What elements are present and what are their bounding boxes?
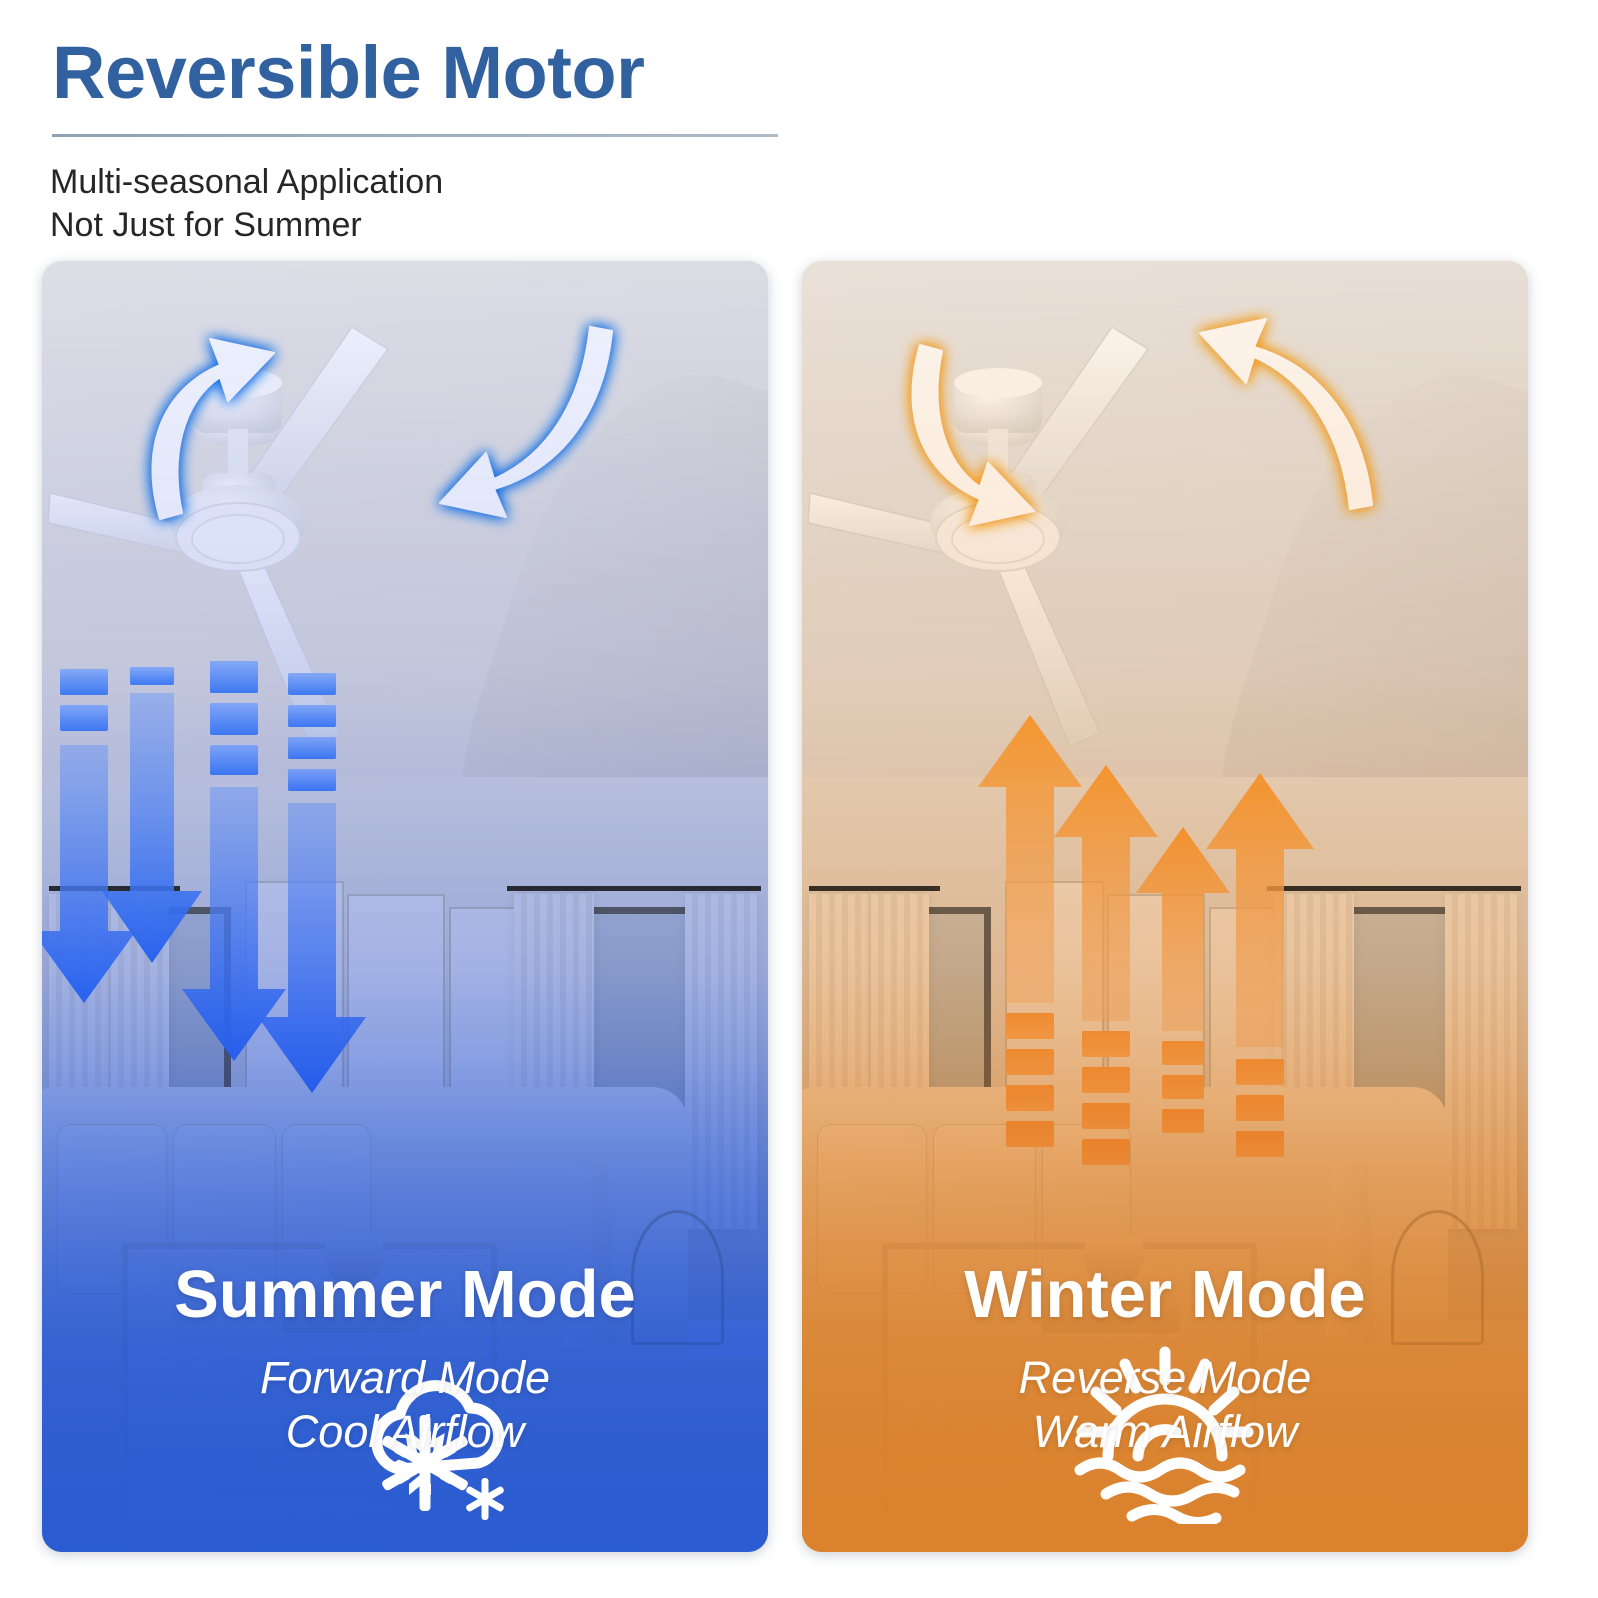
header: Reversible Motor Multi-seasonal Applicat… (0, 0, 1598, 250)
winter-sub-line-1: Reverse Mode (802, 1351, 1528, 1405)
panel-summer-mode[interactable]: Summer Mode Forward Mode Cool Airflow (42, 261, 768, 1552)
page-title: Reversible Motor (52, 36, 644, 110)
title-divider (52, 134, 778, 137)
summer-sub-line-2: Cool Airflow (42, 1405, 768, 1459)
winter-sub-line-2: Warm Airflow (802, 1405, 1528, 1459)
winter-mode-title: Winter Mode (802, 1261, 1528, 1328)
subtitle-line-1: Multi-seasonal Application (50, 162, 443, 202)
summer-mode-title: Summer Mode (42, 1261, 768, 1328)
summer-sub-line-1: Forward Mode (42, 1351, 768, 1405)
summer-mode-subtitle: Forward Mode Cool Airflow (42, 1351, 768, 1459)
winter-mode-subtitle: Reverse Mode Warm Airflow (802, 1351, 1528, 1459)
panel-winter-mode[interactable]: Winter Mode Reverse Mode Warm Airflow (802, 261, 1528, 1552)
subtitle-line-2: Not Just for Summer (50, 205, 362, 245)
